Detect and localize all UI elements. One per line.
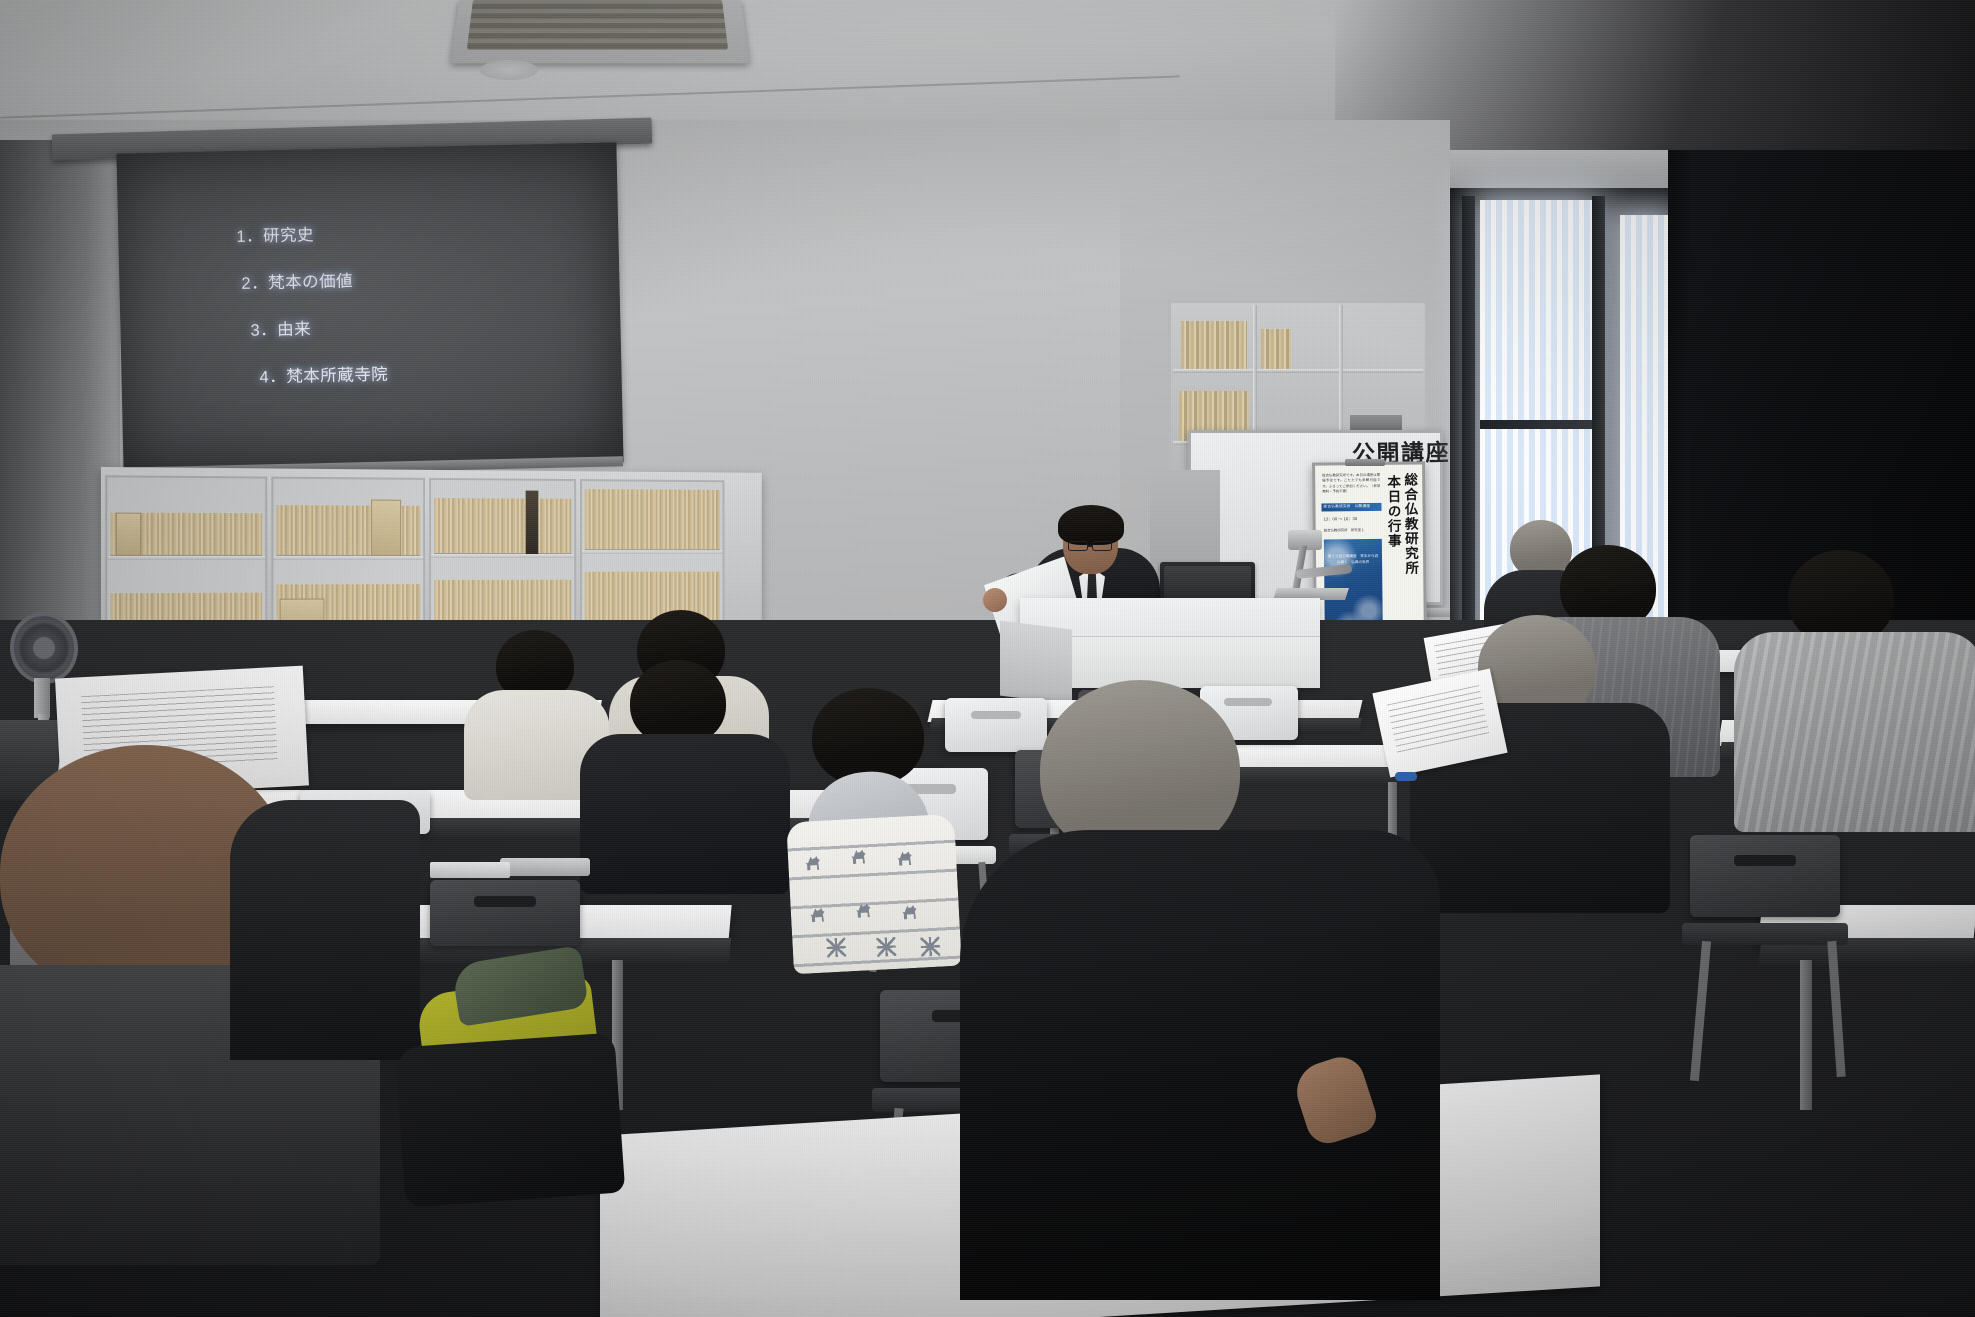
poster-main-title: 総合仏教研究所 [1403,473,1418,576]
poster-banner-text: 総合仏教研究所 公開講座 [1323,503,1370,508]
book-on-desk [500,858,590,876]
eyeglasses-bridge [1088,545,1093,547]
slide-item-1: 1．研究史 [236,216,566,247]
shelf-bay [580,479,724,637]
poster-subtitle: 本日の行事 [1386,475,1400,549]
slide-item-4: 4．梵本所蔵寺院 [239,356,569,387]
book-on-desk [430,862,510,878]
pen [1395,772,1417,781]
poster-flyer-text: 第２０回公開講座 梵本から読み解く 仏典の世界 [1327,553,1379,566]
poster-clip [1345,459,1385,466]
pedestal-fan-neck [34,678,50,718]
shelf-bay [271,477,425,640]
poster-place: 総合仏教研究所 研究室１ [1324,527,1365,532]
lecture-room-photo: 1．研究史 2．梵本の価値 3．由来 4．梵本所蔵寺院 [0,0,1975,1317]
poster-time: 13：00 ～ 16：30 [1324,516,1358,522]
air-conditioner-grille-icon [467,0,728,50]
eyeglasses-icon [1092,541,1112,551]
table-leg [1800,960,1812,1110]
shelf-bay [429,478,576,638]
window-mullion [1480,420,1592,429]
nordic-pattern-sweater [786,814,962,975]
poster-body-text: 総合仏教研究所です。本日の講座は開催予定です。ごたたでも参観可能です。ふるってご… [1322,473,1380,495]
ceiling-light [480,60,538,80]
slide-content: 1．研究史 2．梵本の価値 3．由来 4．梵本所蔵寺院 [236,216,570,411]
podium-side-panel [1000,621,1072,705]
slide-item-2: 2．梵本の価値 [237,263,567,294]
slide-item-3: 3．由来 [238,310,568,341]
window-mullion [1462,196,1475,674]
bag [395,1033,626,1208]
projection-screen: 1．研究史 2．梵本の価値 3．由来 4．梵本所蔵寺院 [116,142,623,473]
shelf-bay [105,475,267,641]
eyeglasses-icon [1068,541,1088,551]
presenter-hair [1058,505,1124,545]
